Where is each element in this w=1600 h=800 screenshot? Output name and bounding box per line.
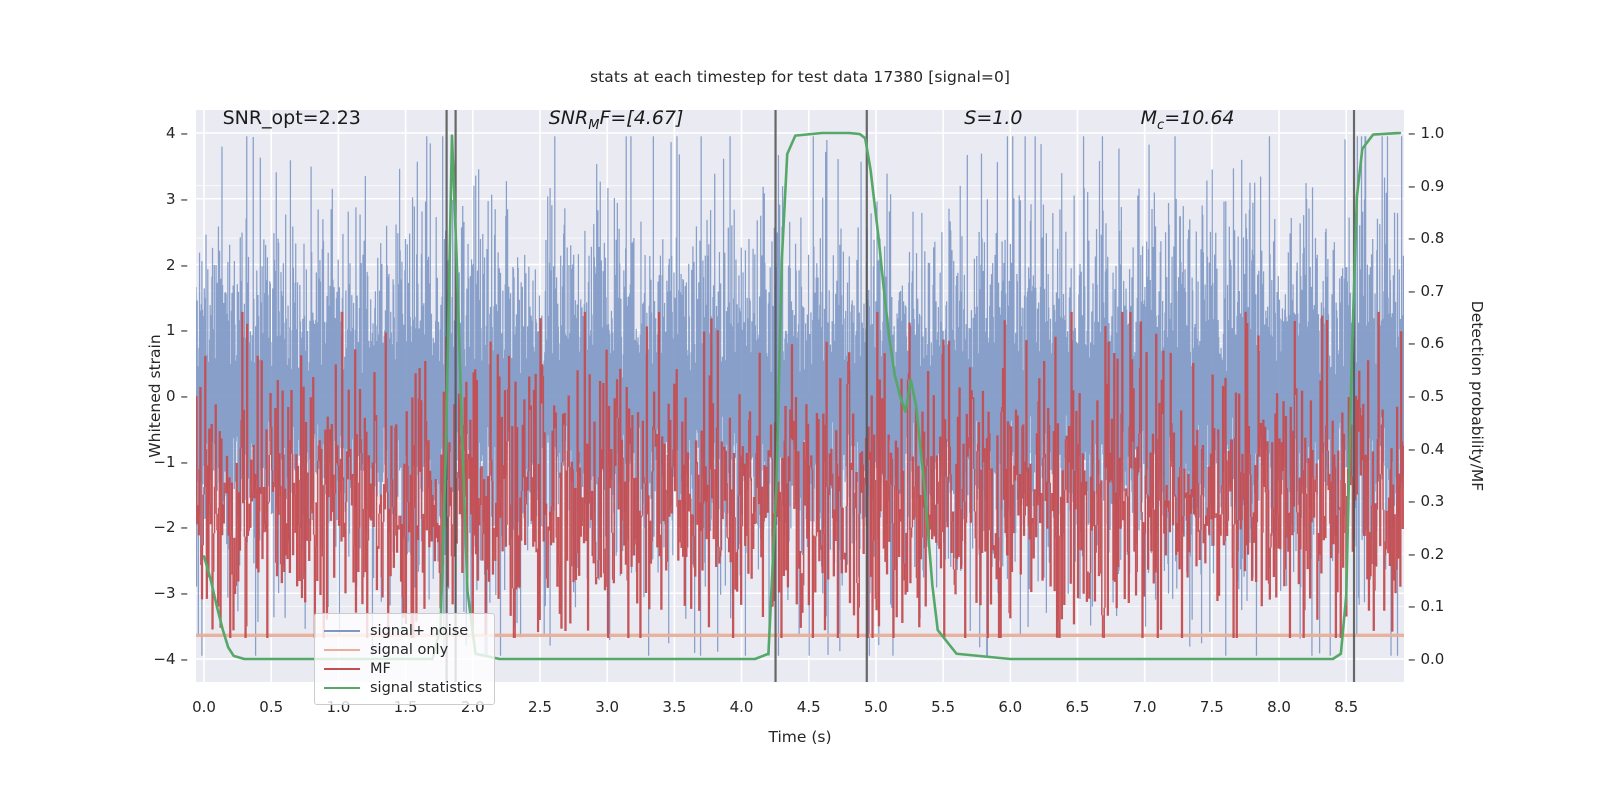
x-tick-label: 6.5 [1066,698,1090,716]
legend-label: signal statistics [370,680,482,696]
legend-entry[interactable]: signal+ noise [324,621,482,640]
figure-title: stats at each timestep for test data 173… [0,68,1600,86]
x-tick-label: 2.5 [528,698,552,716]
right-y-tick-label: –1.0 [1408,124,1444,142]
legend-label: MF [370,661,391,677]
left-y-axis-label: Whitened strain [146,110,164,682]
plot-axes [196,110,1404,682]
x-tick-label: 7.0 [1133,698,1157,716]
legend-color-swatch [324,668,360,670]
right-y-tick-label: –0.7 [1408,282,1444,300]
right-y-axis-label: Detection probability/MF [1468,110,1486,682]
x-tick-label: 6.0 [998,698,1022,716]
legend-box: signal+ noisesignal onlyMFsignal statist… [314,613,495,705]
left-y-tick-label: 1– [166,321,188,339]
right-y-tick-label: –0.2 [1408,545,1444,563]
right-y-tick-label: –0.4 [1408,440,1444,458]
legend-color-swatch [324,649,360,651]
left-y-tick-label: 3– [166,190,188,208]
legend-color-swatch [324,630,360,632]
left-y-tick-label: 0– [166,387,188,405]
x-tick-label: 5.0 [864,698,888,716]
mc-annotation: Mc=10.64 [1141,107,1235,133]
snr-mf-annotation: SNRMF=[4.67] [549,107,684,133]
x-tick-label: 0.0 [192,698,216,716]
right-y-tick-label: –0.8 [1408,229,1444,247]
right-y-tick-label: –0.5 [1408,387,1444,405]
right-y-tick-label: –0.0 [1408,650,1444,668]
x-tick-label: 8.5 [1334,698,1358,716]
x-tick-label: 8.0 [1267,698,1291,716]
right-y-tick-label: –0.1 [1408,597,1444,615]
legend-entry[interactable]: signal statistics [324,678,482,697]
s-annotation: S=1.0 [964,107,1022,129]
legend-color-swatch [324,687,360,689]
snr-opt-annotation: SNR_opt=2.23 [223,107,361,129]
x-tick-label: 3.5 [662,698,686,716]
right-y-tick-label: –0.9 [1408,177,1444,195]
x-axis-label: Time (s) [196,728,1404,746]
left-y-tick-label: 4– [166,124,188,142]
plot-drawing-area [196,110,1404,682]
x-tick-label: 4.5 [797,698,821,716]
x-tick-label: 4.0 [730,698,754,716]
x-tick-label: 3.0 [595,698,619,716]
x-tick-label: 7.5 [1200,698,1224,716]
legend-label: signal only [370,642,448,658]
figure-canvas: stats at each timestep for test data 173… [0,0,1600,800]
left-y-tick-label: 2– [166,256,188,274]
legend-entry[interactable]: MF [324,659,482,678]
x-tick-label: 5.5 [931,698,955,716]
legend-label: signal+ noise [370,623,468,639]
legend-entry[interactable]: signal only [324,640,482,659]
right-y-tick-label: –0.3 [1408,492,1444,510]
x-tick-label: 0.5 [259,698,283,716]
right-y-tick-label: –0.6 [1408,334,1444,352]
